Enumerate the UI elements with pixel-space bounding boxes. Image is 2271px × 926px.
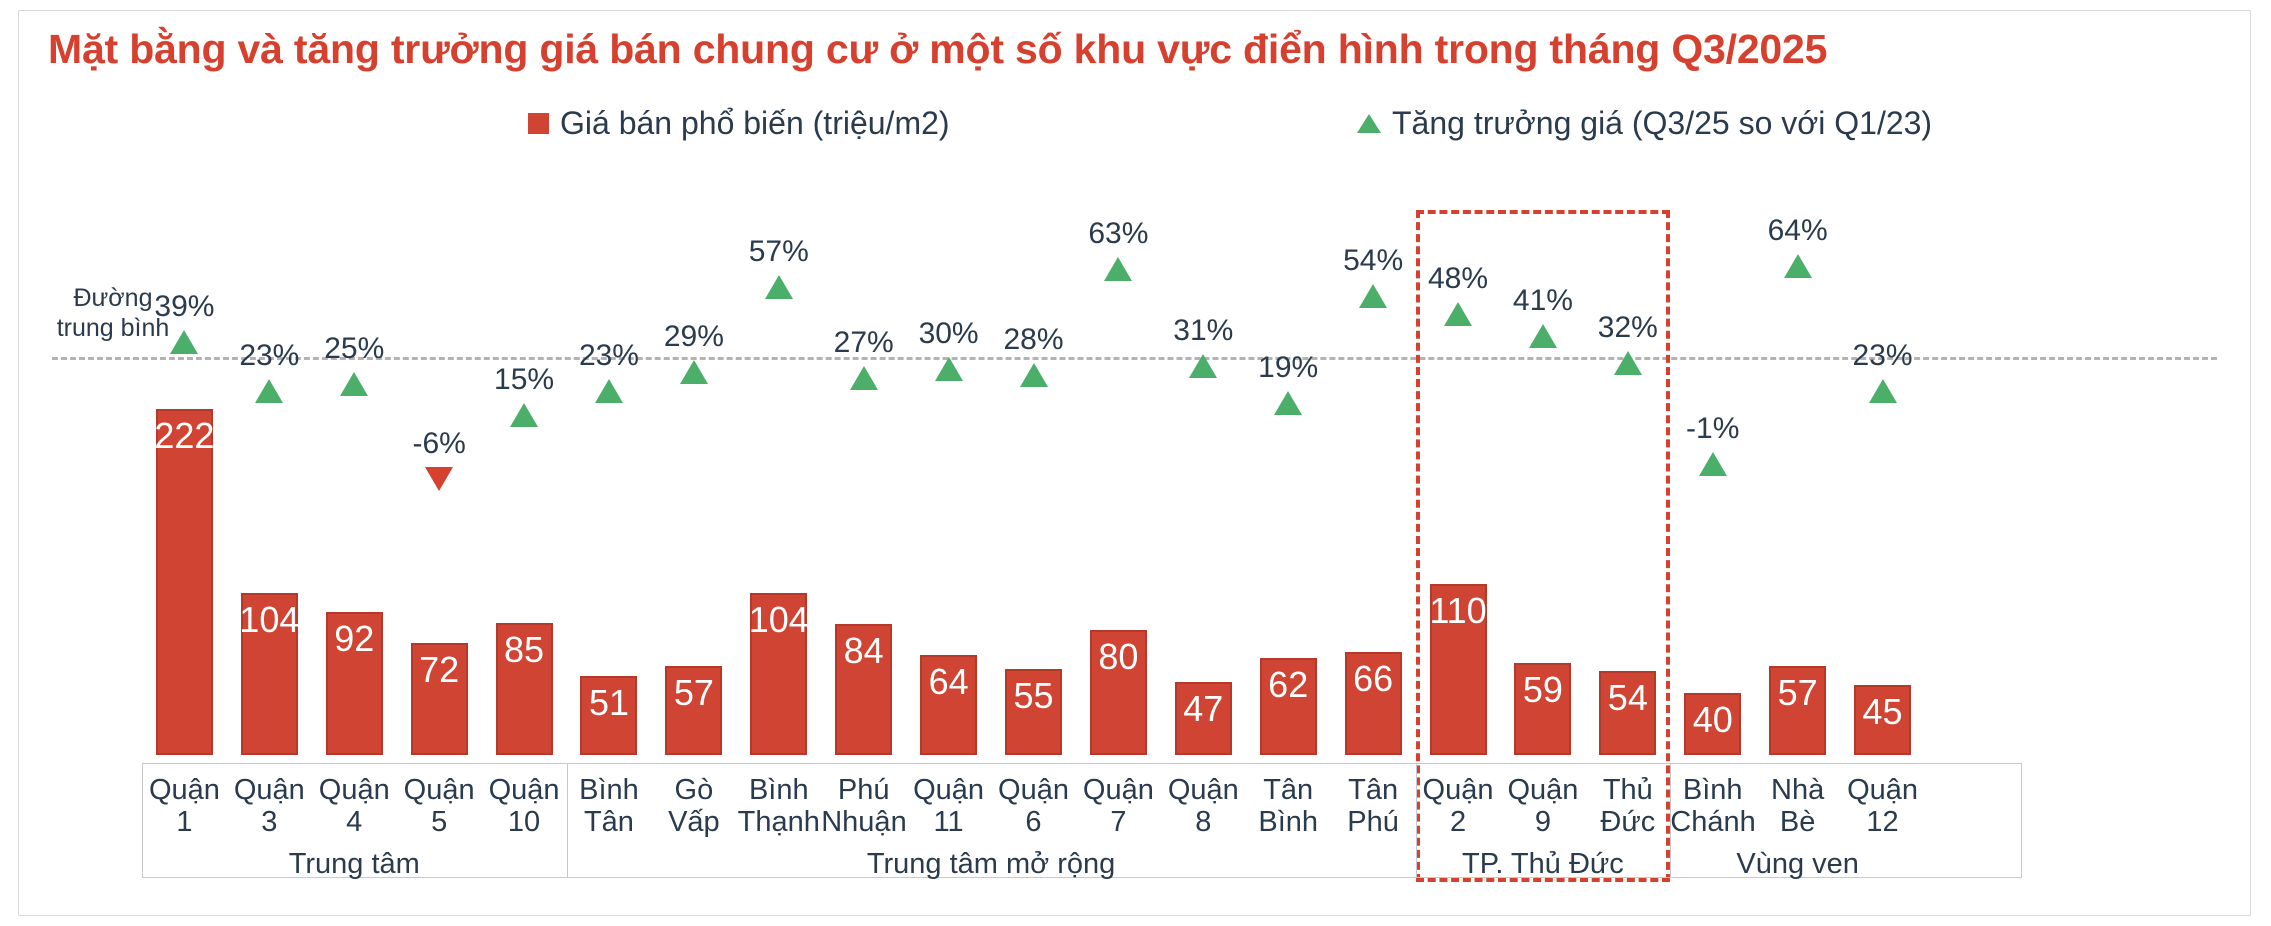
- axis-label-21: Quận 12: [1840, 774, 1925, 839]
- group-label-4: Vùng ven: [1670, 848, 1925, 881]
- growth-label-14: 19%: [1208, 351, 1368, 385]
- growth-label-4: -6%: [359, 427, 519, 461]
- triangle-up-icon-19[interactable]: [1699, 452, 1727, 476]
- triangle-up-icon-12[interactable]: [1104, 257, 1132, 281]
- growth-label-3: 25%: [274, 332, 434, 366]
- triangle-up-icon-3[interactable]: [340, 372, 368, 396]
- axis-label-5: Quận 10: [482, 774, 567, 839]
- plot-area: Đường trung bình 22210492728551571048464…: [0, 0, 2271, 926]
- growth-label-8: 57%: [699, 235, 859, 269]
- triangle-up-icon-10[interactable]: [935, 357, 963, 381]
- triangle-up-icon-20[interactable]: [1784, 254, 1812, 278]
- axis-label-15: Tân Phú: [1331, 774, 1416, 839]
- axis-label-16: Quận 2: [1416, 774, 1501, 839]
- group-separator-3: [1670, 763, 1671, 878]
- triangle-up-icon-14[interactable]: [1274, 391, 1302, 415]
- triangle-up-icon-7[interactable]: [680, 360, 708, 384]
- bar-value-12: 80: [1048, 636, 1188, 678]
- triangle-up-icon-2[interactable]: [255, 379, 283, 403]
- axis-label-19: Bình Chánh: [1670, 774, 1755, 839]
- bar-value-5: 85: [454, 629, 594, 671]
- bar-value-1: 222: [114, 415, 254, 457]
- axis-label-8: Bình Thạnh: [736, 774, 821, 839]
- triangle-down-icon-4[interactable]: [425, 467, 453, 491]
- bar-value-21: 45: [1813, 691, 1953, 733]
- bar-1[interactable]: [156, 409, 213, 755]
- axis-label-10: Quận 11: [906, 774, 991, 839]
- triangle-up-icon-8[interactable]: [765, 275, 793, 299]
- chart-canvas: Mặt bằng và tăng trưởng giá bán chung cư…: [0, 0, 2271, 926]
- axis-label-14: Tân Bình: [1246, 774, 1331, 839]
- axis-label-20: Nhà Bè: [1755, 774, 1840, 839]
- group-separator-1: [567, 763, 568, 878]
- group-label-3: TP. Thủ Đức: [1416, 848, 1671, 881]
- triangle-up-icon-5[interactable]: [510, 403, 538, 427]
- group-label-1: Trung tâm: [142, 848, 567, 881]
- axis-label-3: Quận 4: [312, 774, 397, 839]
- axis-label-17: Quận 9: [1500, 774, 1585, 839]
- growth-label-13: 31%: [1123, 314, 1283, 348]
- growth-label-20: 64%: [1718, 214, 1878, 248]
- group-label-2: Trung tâm mở rộng: [567, 848, 1416, 881]
- axis-label-13: Quận 8: [1161, 774, 1246, 839]
- axis-label-7: Gò Vấp: [651, 774, 736, 839]
- axis-label-9: Phú Nhuận: [821, 774, 906, 839]
- axis-label-6: Bình Tân: [567, 774, 652, 839]
- axis-label-12: Quận 7: [1076, 774, 1161, 839]
- axis-label-11: Quận 6: [991, 774, 1076, 839]
- triangle-up-icon-21[interactable]: [1869, 379, 1897, 403]
- axis-label-2: Quận 3: [227, 774, 312, 839]
- axis-label-18: Thủ Đức: [1585, 774, 1670, 839]
- group-separator-2: [1416, 763, 1417, 878]
- bar-value-11: 55: [964, 675, 1104, 717]
- growth-label-21: 23%: [1803, 339, 1963, 373]
- triangle-up-icon-9[interactable]: [850, 366, 878, 390]
- growth-label-1: 39%: [104, 290, 264, 324]
- axis-label-1: Quận 1: [142, 774, 227, 839]
- triangle-up-icon-11[interactable]: [1020, 363, 1048, 387]
- growth-label-12: 63%: [1038, 217, 1198, 251]
- bar-value-7: 57: [624, 672, 764, 714]
- axis-label-4: Quận 5: [397, 774, 482, 839]
- growth-label-7: 29%: [614, 320, 774, 354]
- triangle-up-icon-6[interactable]: [595, 379, 623, 403]
- growth-label-11: 28%: [954, 323, 1114, 357]
